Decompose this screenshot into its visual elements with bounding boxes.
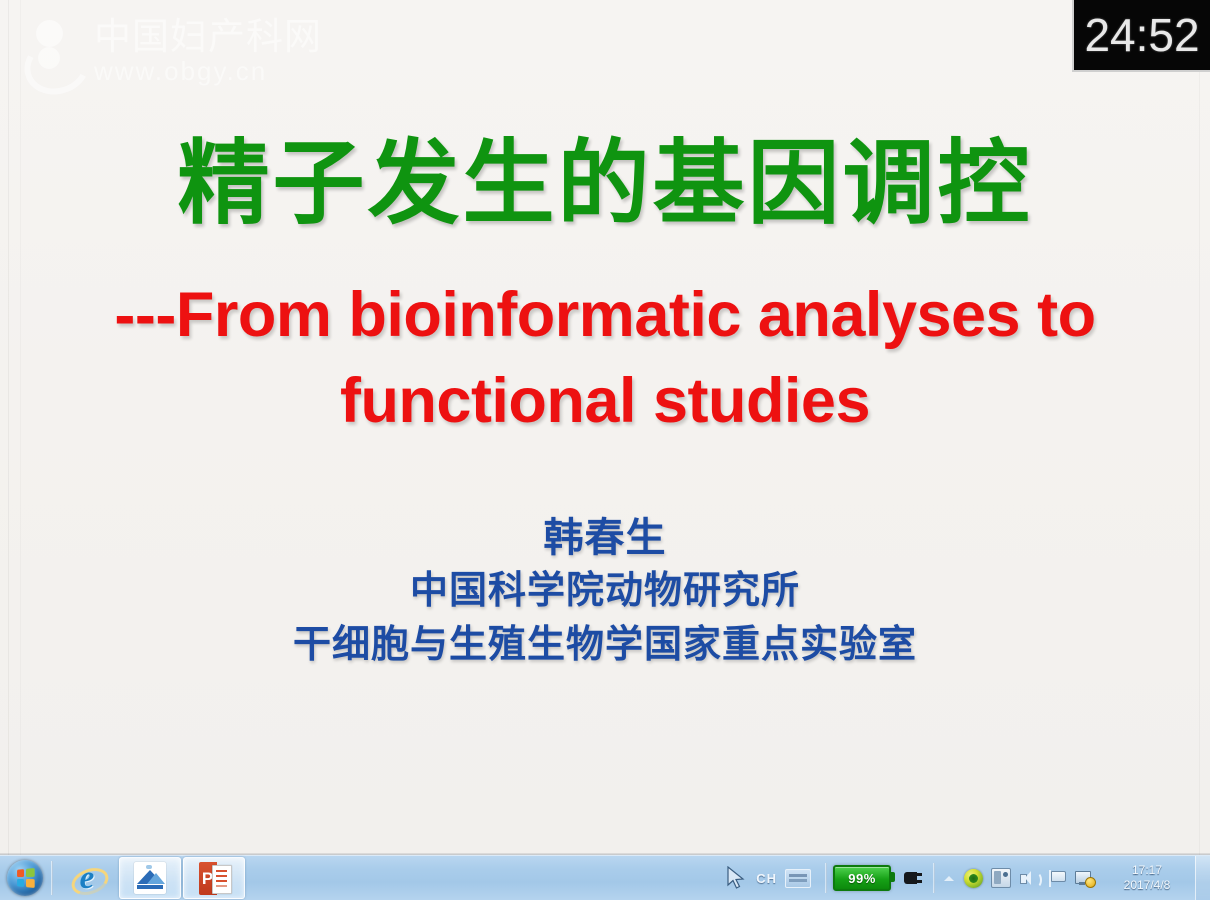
mother-and-child-logo-icon — [22, 14, 88, 88]
windows-taskbar: e P CH — [0, 855, 1210, 900]
tray-divider — [825, 863, 827, 893]
recording-timer-value: 24:52 — [1084, 12, 1199, 58]
clock-date: 2017/4/8 — [1109, 878, 1185, 893]
author-organization: 中国科学院动物研究所 — [0, 564, 1210, 618]
taskbar-separator — [51, 861, 53, 895]
slide-edge-line-secondary — [20, 0, 21, 856]
powerpoint-icon: P — [199, 862, 230, 895]
windows-logo-icon — [7, 860, 43, 896]
action-center-flag-icon[interactable] — [1045, 866, 1069, 890]
power-plug-icon[interactable] — [901, 869, 923, 887]
slide-edge-line-right — [1199, 0, 1200, 856]
slide-title: 精子发生的基因调控 — [0, 132, 1210, 236]
taskbar-item-mountain-app[interactable] — [119, 857, 181, 899]
chevron-up-icon[interactable] — [941, 869, 957, 887]
keyboard-icon[interactable] — [785, 869, 811, 888]
mountain-logo-icon — [134, 862, 166, 894]
slide-subtitle: ---From bioinformatic analyses to functi… — [50, 272, 1160, 444]
mouse-cursor-icon — [726, 866, 750, 890]
recording-timer-badge: 24:52 — [1072, 0, 1210, 72]
network-icon[interactable] — [1073, 866, 1097, 890]
start-orb-button[interactable] — [2, 858, 48, 898]
internet-explorer-icon: e — [70, 861, 104, 895]
watermark-url: www.obgy.cn — [94, 57, 322, 85]
screen-capture: 中国妇产科网 www.obgy.cn 24:52 精子发生的基因调控 ---Fr… — [0, 0, 1210, 900]
taskbar-item-powerpoint[interactable]: P — [183, 857, 245, 899]
battery-percent: 99% — [848, 871, 876, 886]
slide-edge-line — [8, 0, 9, 856]
battery-indicator[interactable]: 99% — [833, 865, 891, 891]
site-watermark: 中国妇产科网 www.obgy.cn — [22, 14, 322, 88]
ime-language-indicator[interactable]: CH — [756, 871, 777, 886]
slide-author-block: 韩春生 中国科学院动物研究所 干细胞与生殖生物学国家重点实验室 — [0, 512, 1210, 672]
author-laboratory: 干细胞与生殖生物学国家重点实验室 — [0, 618, 1210, 672]
system-tray: CH 99% 17:17 — [724, 856, 1210, 900]
watermark-brand: 中国妇产科网 — [94, 17, 322, 57]
presentation-slide: 中国妇产科网 www.obgy.cn 24:52 精子发生的基因调控 ---Fr… — [0, 0, 1210, 856]
clock-time: 17:17 — [1109, 863, 1185, 878]
taskbar-clock[interactable]: 17:17 2017/4/8 — [1103, 863, 1191, 893]
author-name: 韩春生 — [0, 512, 1210, 564]
taskbar-item-internet-explorer[interactable]: e — [57, 858, 117, 898]
show-desktop-button[interactable] — [1195, 856, 1210, 900]
volume-icon[interactable] — [1017, 866, 1041, 890]
removable-device-icon[interactable] — [989, 866, 1013, 890]
tray-divider-2 — [933, 863, 935, 893]
security-icon[interactable] — [961, 866, 985, 890]
